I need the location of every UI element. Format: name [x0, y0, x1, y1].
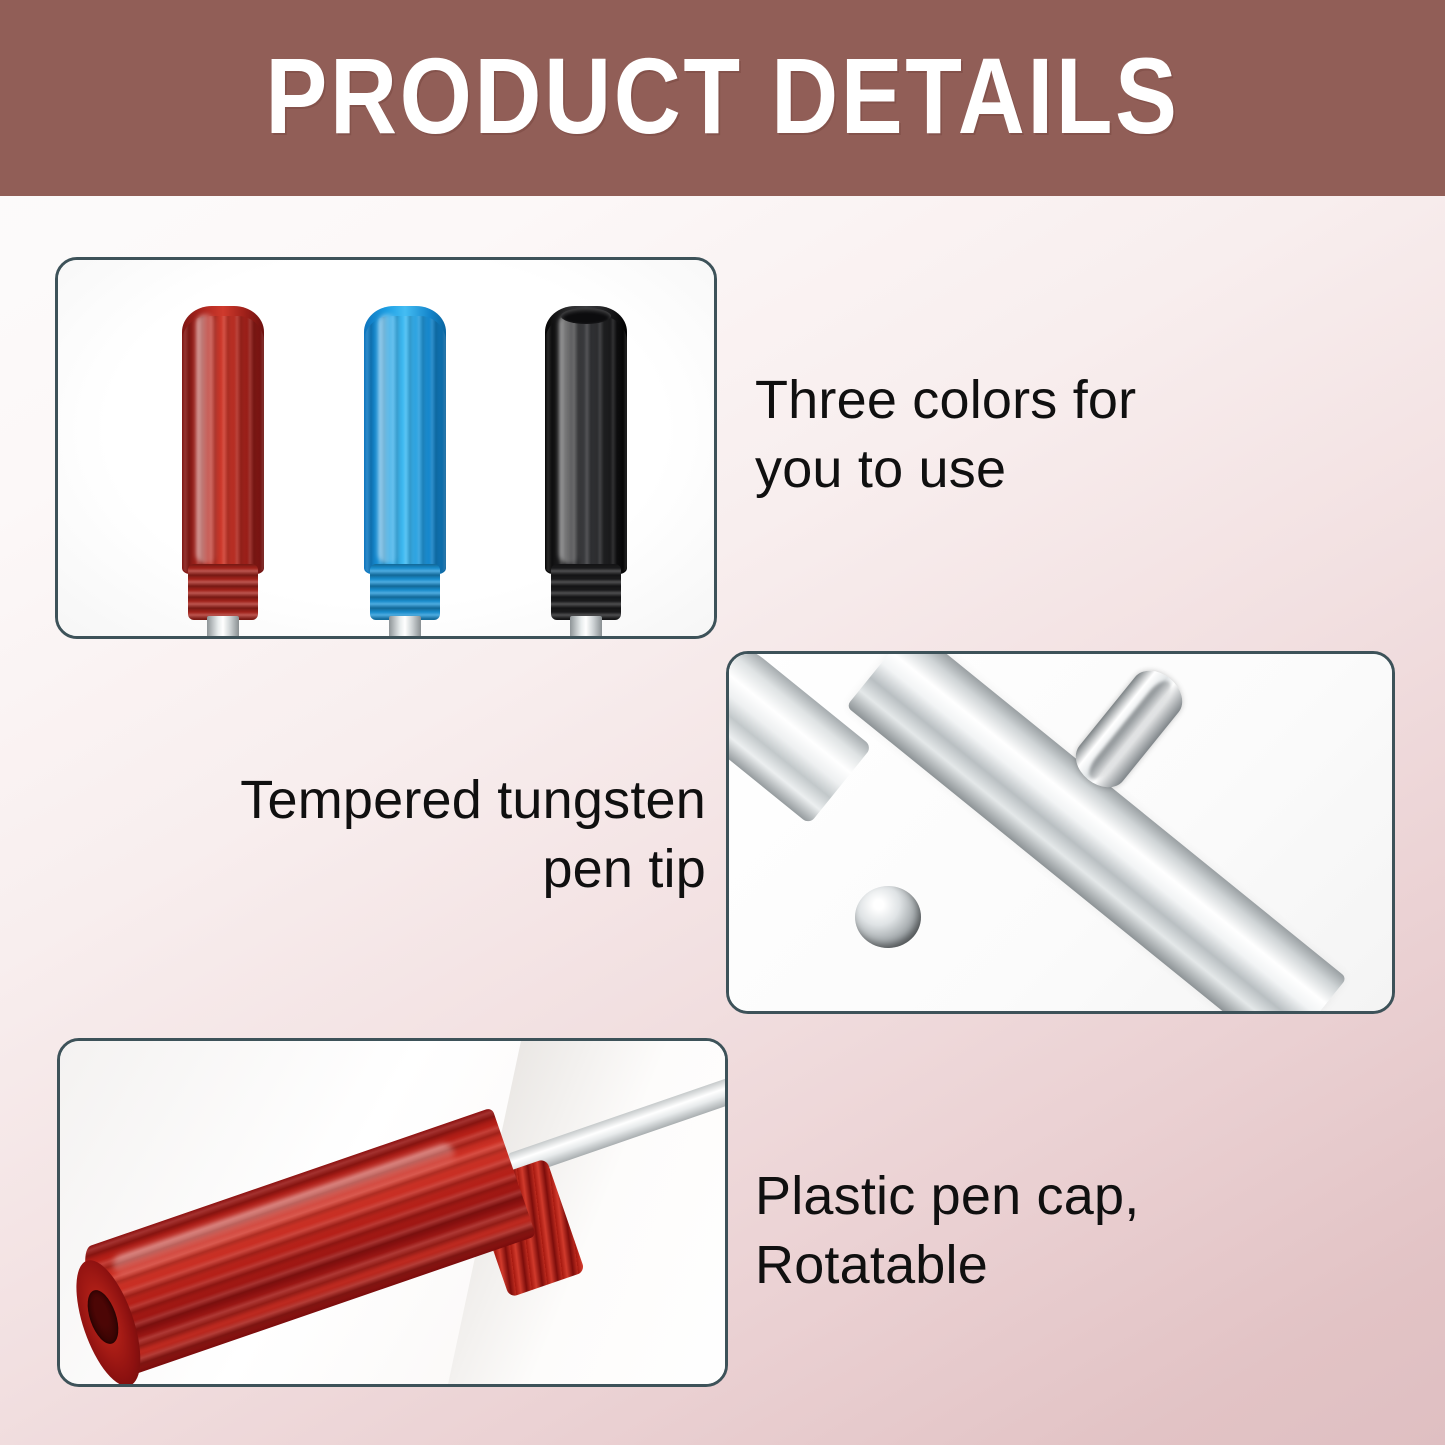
cap-threads — [551, 564, 621, 620]
caption-tungsten-tip: Tempered tungsten pen tip — [176, 766, 706, 904]
cap-ribs — [182, 316, 264, 572]
caption-plastic-cap: Plastic pen cap, Rotatable — [755, 1162, 1255, 1300]
product-details-infographic: PRODUCT DETAILS — [0, 0, 1445, 1445]
cap-body — [364, 306, 446, 574]
cap-highlight — [378, 314, 398, 564]
blue-pen-cap — [364, 306, 446, 636]
metal-shaft — [207, 616, 239, 639]
cap-threads — [188, 564, 258, 620]
cap-highlight — [559, 314, 579, 564]
tungsten-pen-tip-photo — [726, 651, 1395, 1014]
metal-shaft — [570, 616, 602, 639]
red-plastic-pen-cap-photo — [57, 1038, 728, 1387]
black-pen-cap — [545, 306, 627, 636]
pen-barrel — [846, 651, 1347, 1014]
metal-shaft — [389, 616, 421, 639]
pen-tip-cone — [726, 651, 872, 824]
cap-highlight — [196, 314, 216, 564]
caption-three-colors: Three colors for you to use — [755, 366, 1225, 504]
page-title: PRODUCT DETAILS — [101, 0, 1344, 196]
photo-backdrop — [60, 1041, 725, 1384]
cap-ribs — [364, 316, 446, 572]
photo-backdrop — [729, 654, 1392, 1011]
cap-body — [182, 306, 264, 574]
photo-backdrop — [58, 260, 714, 636]
three-colored-pen-caps-photo — [55, 257, 717, 639]
cap-ribs — [545, 316, 627, 572]
tungsten-ball-tip — [855, 886, 921, 948]
cap-body — [545, 306, 627, 574]
cap-threads — [370, 564, 440, 620]
red-pen-cap — [182, 306, 264, 636]
